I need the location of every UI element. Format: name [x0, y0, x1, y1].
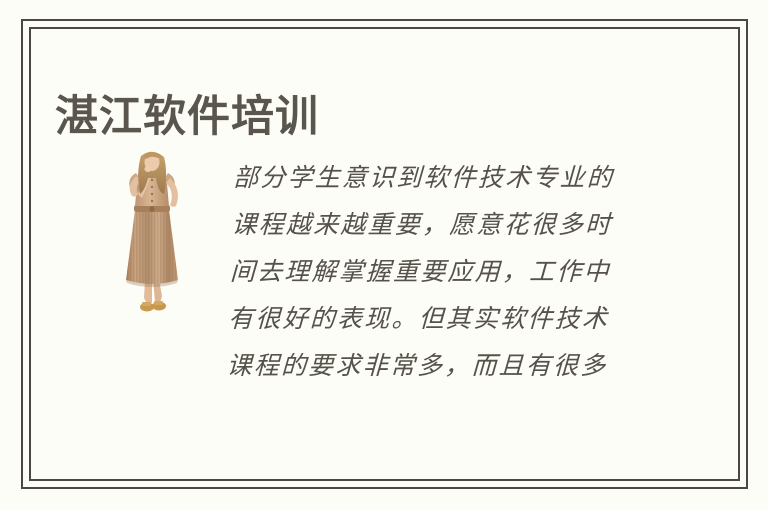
poster-canvas: 湛江软件培训	[0, 0, 768, 510]
woman-figure-icon	[100, 148, 204, 328]
body-line-3: 间去理解掌握重要应用，工作中	[229, 248, 661, 295]
body-line-2: 课程越来越重要，愿意花很多时	[231, 201, 663, 248]
content-area: 部分学生意识到软件技术专业的 课程越来越重要，愿意花很多时 间去理解掌握重要应用…	[55, 140, 695, 400]
body-line-4: 有很好的表现。但其实软件技术	[228, 295, 660, 342]
page-title: 湛江软件培训	[55, 91, 319, 143]
body-line-5: 课程的要求非常多，而且有很多	[226, 342, 658, 389]
body-line-1: 部分学生意识到软件技术专业的	[232, 154, 664, 201]
body-paragraph: 部分学生意识到软件技术专业的 课程越来越重要，愿意花很多时 间去理解掌握重要应用…	[226, 154, 664, 389]
woman-figure-image	[100, 148, 204, 328]
